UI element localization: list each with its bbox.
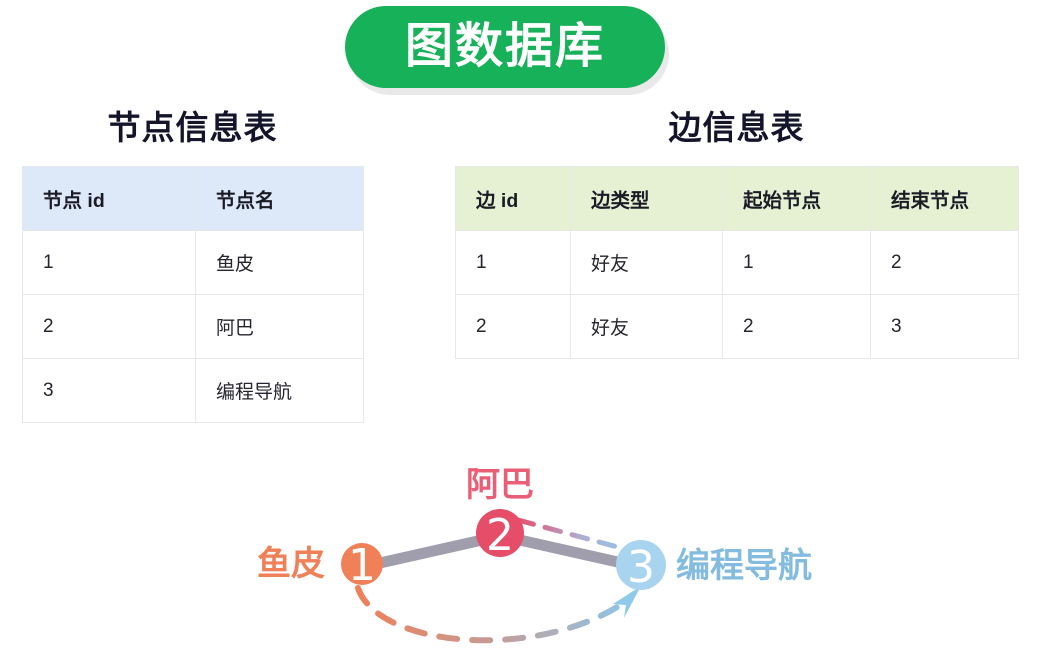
cell-edge-id: 2 [456, 295, 571, 359]
column-header-edge-id: 边 id [456, 167, 571, 231]
column-header-node-id: 节点 id [23, 167, 196, 231]
cell-end-node: 2 [871, 231, 1019, 295]
table-row: 3 编程导航 [23, 359, 364, 423]
cell-edge-type: 好友 [571, 231, 723, 295]
column-header-edge-type: 边类型 [571, 167, 723, 231]
edge-info-table: 边 id 边类型 起始节点 结束节点 1 好友 1 2 2 好友 2 3 [455, 166, 1019, 359]
column-header-start-node: 起始节点 [723, 167, 871, 231]
edge-table-heading: 边信息表 [455, 111, 1018, 144]
cell-edge-id: 1 [456, 231, 571, 295]
page-title: 图数据库 [405, 23, 605, 71]
cell-edge-type: 好友 [571, 295, 723, 359]
graph-node-3-id: 3 [627, 542, 655, 593]
table-row: 1 好友 1 2 [456, 231, 1019, 295]
graph-diagram: 1 鱼皮 2 阿巴 3 编程导航 [0, 440, 1038, 658]
cell-start-node: 2 [723, 295, 871, 359]
column-header-node-name: 节点名 [196, 167, 364, 231]
cell-node-id: 1 [23, 231, 196, 295]
cell-end-node: 3 [871, 295, 1019, 359]
cell-node-id: 2 [23, 295, 196, 359]
table-row: 2 阿巴 [23, 295, 364, 359]
graph-node-1-id: 1 [348, 540, 376, 591]
table-header-row: 边 id 边类型 起始节点 结束节点 [456, 167, 1019, 231]
table-row: 2 好友 2 3 [456, 295, 1019, 359]
cell-node-id: 3 [23, 359, 196, 423]
graph-node-2-name: 阿巴 [466, 466, 534, 504]
cell-node-name: 鱼皮 [196, 231, 364, 295]
table-header-row: 节点 id 节点名 [23, 167, 364, 231]
column-header-end-node: 结束节点 [871, 167, 1019, 231]
table-row: 1 鱼皮 [23, 231, 364, 295]
node-info-table: 节点 id 节点名 1 鱼皮 2 阿巴 3 编程导航 [22, 166, 364, 423]
cell-node-name: 编程导航 [196, 359, 364, 423]
graph-node-2-id: 2 [486, 510, 514, 561]
graph-node-1-name: 鱼皮 [257, 545, 325, 583]
graph-dashed-arc-1-3 [358, 588, 628, 640]
page-title-pill: 图数据库 [345, 6, 665, 88]
cell-node-name: 阿巴 [196, 295, 364, 359]
graph-node-3-name: 编程导航 [676, 546, 812, 585]
node-table-heading: 节点信息表 [22, 111, 363, 144]
cell-start-node: 1 [723, 231, 871, 295]
